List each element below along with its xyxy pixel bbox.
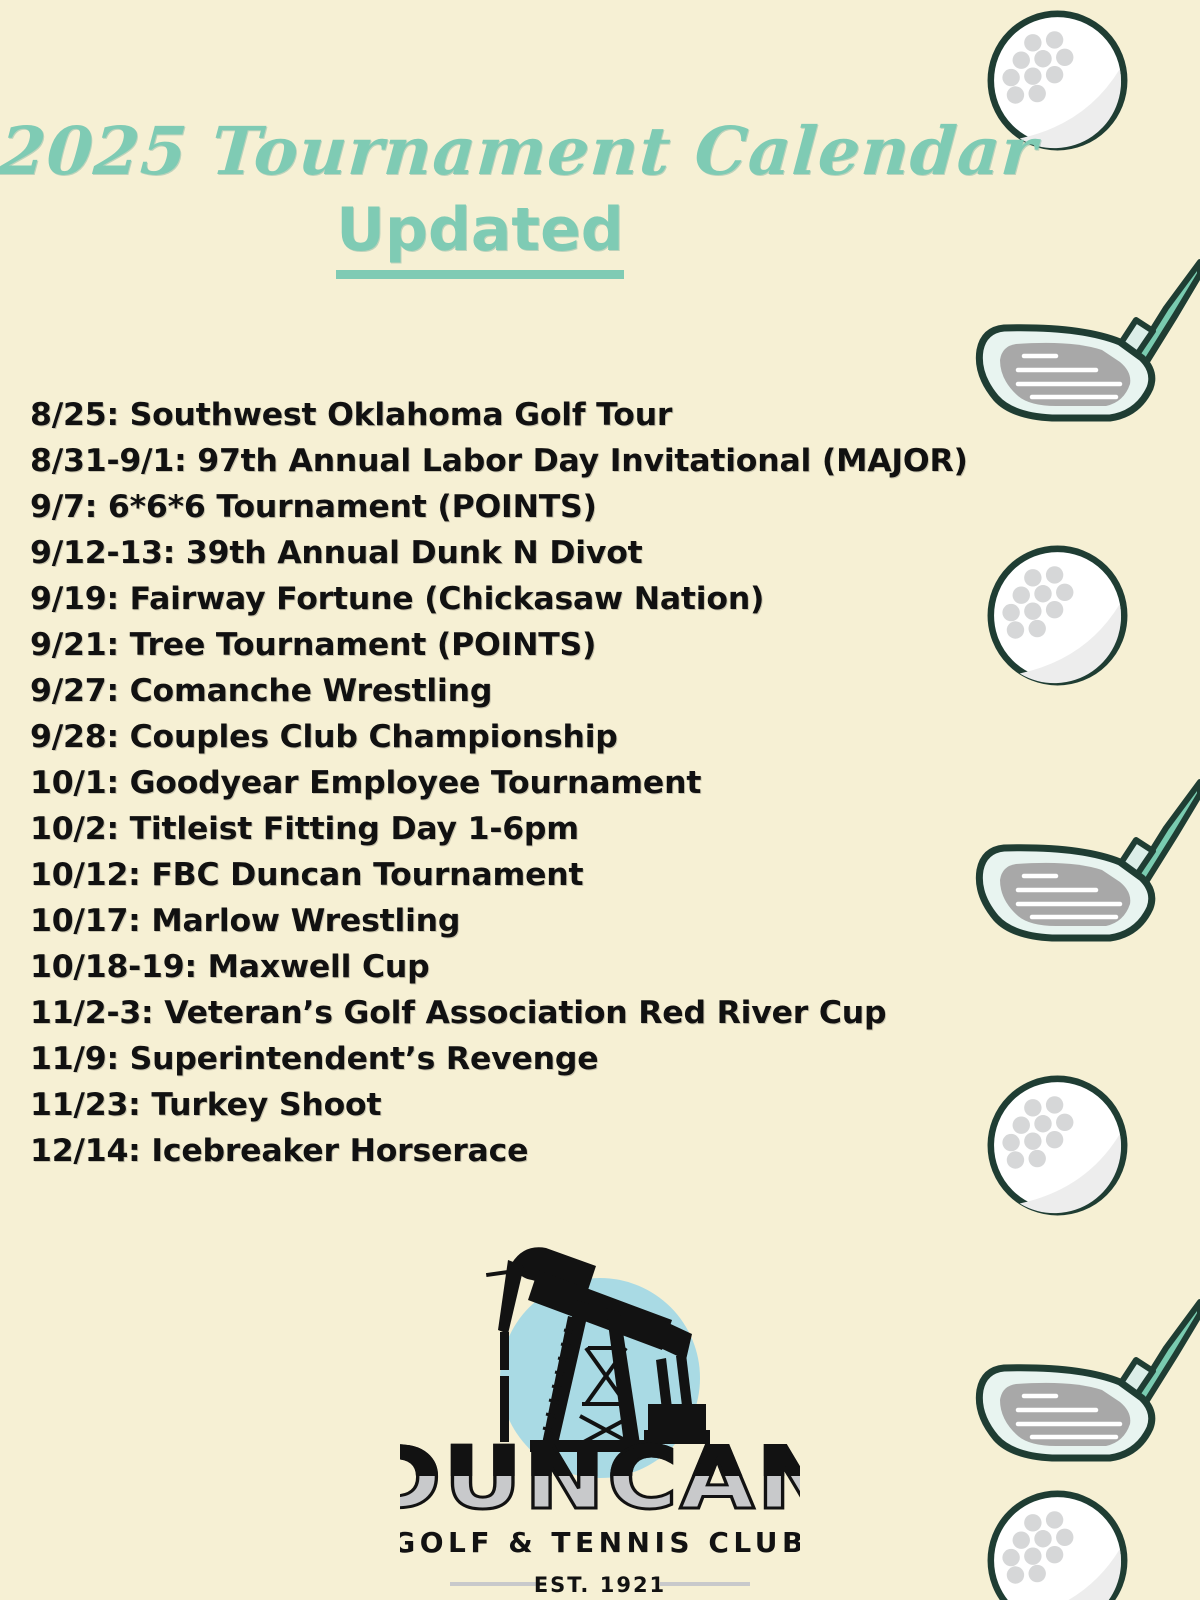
list-item: 10/18-19: Maxwell Cup [30,944,1040,990]
title-line-2-updated: Updated [336,200,623,279]
golf-club-icon [960,1298,1200,1483]
list-item: 12/14: Icebreaker Horserace [30,1128,1040,1174]
list-item: 10/1: Goodyear Employee Tournament [30,760,1040,806]
list-item: 9/7: 6*6*6 Tournament (POINTS) [30,484,1040,530]
list-item: 11/2-3: Veteran’s Golf Association Red R… [30,990,1040,1036]
tournament-calendar-flyer: 2025 Tournament Calendar Updated 8/25: S… [0,0,1200,1600]
list-item: 8/25: Southwest Oklahoma Golf Tour [30,392,1040,438]
list-item: 9/28: Couples Club Championship [30,714,1040,760]
list-item: 11/9: Superintendent’s Revenge [30,1036,1040,1082]
list-item: 9/27: Comanche Wrestling [30,668,1040,714]
logo-established: EST. 1921 [534,1573,666,1597]
logo-tagline: GOLF & TENNIS CLUB [400,1526,800,1559]
golf-ball-icon [985,1488,1130,1600]
title-line-1: 2025 Tournament Calendar [0,118,962,184]
list-item: 10/2: Titleist Fitting Day 1-6pm [30,806,1040,852]
list-item: 10/12: FBC Duncan Tournament [30,852,1040,898]
list-item: 9/21: Tree Tournament (POINTS) [30,622,1040,668]
tournament-list: 8/25: Southwest Oklahoma Golf Tour 8/31-… [30,392,1040,1174]
list-item: 8/31-9/1: 97th Annual Labor Day Invitati… [30,438,1040,484]
list-item: 9/19: Fairway Fortune (Chickasaw Nation) [30,576,1040,622]
list-item: 9/12-13: 39th Annual Dunk N Divot [30,530,1040,576]
list-item: 10/17: Marlow Wrestling [30,898,1040,944]
page-title: 2025 Tournament Calendar Updated [0,118,960,279]
club-logo: DUNCAN DUNCAN GOLF & TENNIS CLUB EST. 19… [400,1208,800,1600]
logo-wordmark-duncan: DUNCAN DUNCAN [400,1428,800,1529]
list-item: 11/23: Turkey Shoot [30,1082,1040,1128]
